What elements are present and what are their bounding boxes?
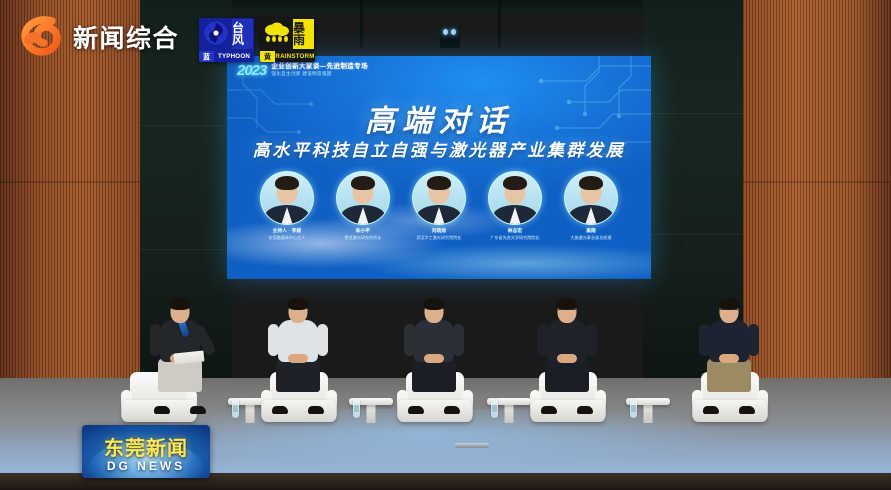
glasses-icon [720,309,738,315]
event-logo: 2023 企业创新大家谈—先进制造专场 强化自主创新 建设制造强国 [237,62,368,79]
participant-panelist [537,300,597,404]
avatar [564,171,618,225]
session-subtitle: 高水平科技自立自强与激光器产业集群发展 [227,136,651,161]
rainstorm-alert-en: RAINSTORM [275,53,315,60]
participant-panelist [404,300,464,404]
typhoon-alert-en: TYPHOON [214,53,254,60]
ceiling-pole [360,0,363,48]
panelist-name: 朱小平 [331,228,395,234]
water-bottle [630,399,637,418]
water-bottle [353,399,360,418]
session-title: 高端对话 [227,96,651,140]
avatar [260,171,314,225]
broadcast-frame: 2023 企业创新大家谈—先进制造专场 强化自主创新 建设制造强国 高端对话 高… [0,0,891,490]
avatar [336,171,390,225]
participant-moderator [150,300,210,404]
event-logo-line2: 强化自主创新 建设制造强国 [271,72,368,77]
channel-logo: 新闻综合 [18,14,179,60]
panelist-org: 东莞融媒体中心主人 [255,235,319,241]
wood-wall-right [743,0,891,378]
led-screen: 2023 企业创新大家谈—先进制造专场 强化自主创新 建设制造强国 高端对话 高… [227,56,651,279]
rainstorm-alert-badge: 暴雨 黄 RAINSTORM [260,18,315,62]
program-badge: 东莞新闻 DG NEWS [82,425,210,478]
panelist-portrait: 朱小平 德龙激光研究所所长 [331,171,395,241]
typhoon-alert-cn: 台风 [232,19,253,49]
panelist-portrait: 刘晓旭 武汉华工激光研究院院长 [407,171,471,241]
stage-tape-marker [455,443,489,448]
panelist-name: 主持人 · 李斌 [255,228,319,234]
participant-panelist [699,300,759,404]
event-logo-line1: 企业创新大家谈—先进制造专场 [271,64,368,71]
rainstorm-alert-cn: 暴雨 [293,19,314,49]
screen-light-sweep [227,56,651,279]
water-bottle [232,399,239,418]
panelist-name: 林志宏 [483,228,547,234]
panelist-org: 广东省先进光学研究院院长 [483,235,547,241]
panelist-portrait: 高翔 大族激光事业部总经理 [559,171,623,241]
rainstorm-cloud-icon [262,20,292,47]
orange-swirl-logo-icon [18,14,64,60]
participant-panelist [268,300,328,404]
program-badge-cn: 东莞新闻 [82,432,210,461]
glasses-icon [558,309,576,315]
water-bottle [491,399,498,418]
panelist-portrait: 林志宏 广东省先进光学研究院院长 [483,171,547,241]
event-year: 2023 [237,62,266,79]
typhoon-alert-badge: 台风 蓝 TYPHOON [199,18,254,62]
weather-alert-badges: 台风 蓝 TYPHOON 暴雨 黄 RAINSTORM [199,18,315,62]
panelist-name: 刘晓旭 [407,228,471,234]
panelist-org: 大族激光事业部总经理 [559,235,623,241]
typhoon-alert-level: 蓝 [199,51,214,62]
rainstorm-alert-level: 黄 [260,51,275,62]
panelist-name: 高翔 [559,228,623,234]
typhoon-spiral-icon [201,20,231,47]
panelist-org: 武汉华工激光研究院院长 [407,235,471,241]
program-badge-en: DG NEWS [82,459,210,473]
avatar [488,171,542,225]
panelist-portrait-row: 主持人 · 李斌 东莞融媒体中心主人 朱小平 德龙激光研究所所长 刘晓旭 武汉华… [255,171,623,241]
stage-light-icon [440,26,460,48]
panelist-portrait: 主持人 · 李斌 东莞融媒体中心主人 [255,171,319,241]
channel-name: 新闻综合 [73,19,179,55]
ceiling-pole [498,0,501,48]
panelist-org: 德龙激光研究所所长 [331,235,395,241]
avatar [412,171,466,225]
